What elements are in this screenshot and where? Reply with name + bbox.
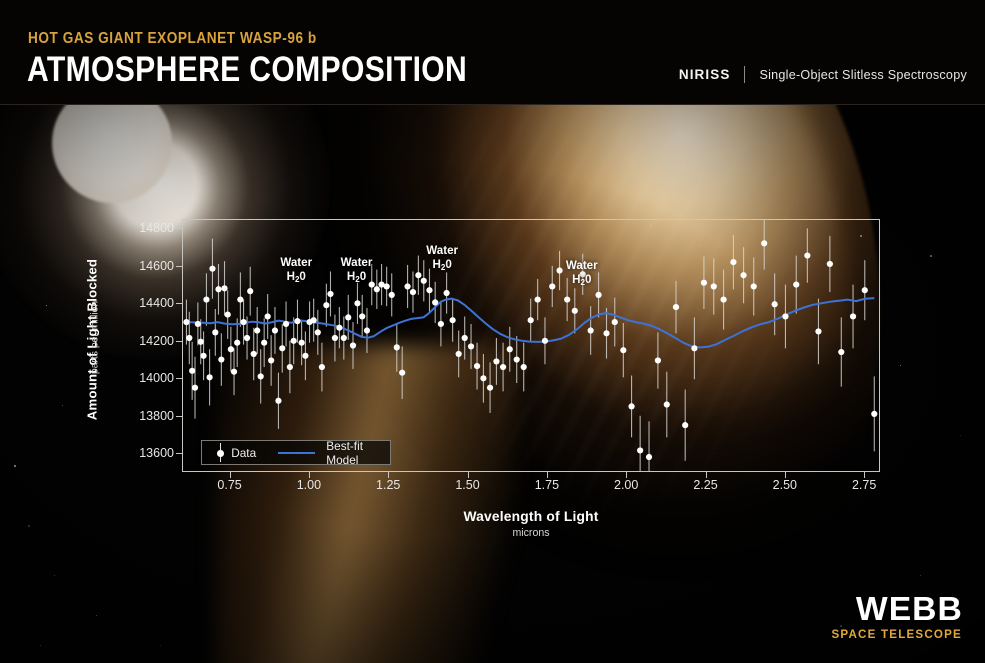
y-tick-mark — [176, 341, 182, 342]
webb-logo: WEBB SPACE TELESCOPE — [831, 592, 962, 641]
infographic-canvas: HOT GAS GIANT EXOPLANET WASP-96 b ATMOSP… — [0, 0, 985, 663]
x-tick-label: 2.50 — [773, 478, 797, 492]
header-bar: HOT GAS GIANT EXOPLANET WASP-96 b ATMOSP… — [0, 0, 985, 105]
webb-wordmark: WEBB — [830, 592, 963, 625]
header-instrument-block: NIRISS Single-Object Slitless Spectrosco… — [679, 66, 967, 83]
y-tick-label: 14400 — [104, 296, 174, 310]
x-tick-mark — [785, 472, 786, 478]
legend-model-label: Best-fit Model — [326, 439, 390, 467]
x-tick-label: 1.25 — [376, 478, 400, 492]
spectrum-plot: 136001380014000142001440014600148000.751… — [182, 219, 880, 472]
header-eyebrow: HOT GAS GIANT EXOPLANET WASP-96 b — [28, 30, 317, 48]
legend-data-label: Data — [231, 446, 256, 460]
legend-model-line — [278, 452, 315, 454]
x-tick-mark — [230, 472, 231, 478]
x-tick-label: 1.75 — [535, 478, 559, 492]
water-annotation: WaterH20 — [341, 256, 373, 285]
x-tick-label: 2.25 — [693, 478, 717, 492]
y-tick-mark — [176, 266, 182, 267]
y-tick-mark — [176, 378, 182, 379]
x-tick-label: 2.75 — [852, 478, 876, 492]
x-axis-title: Wavelength of Light — [182, 509, 880, 524]
y-tick-label: 14000 — [104, 371, 174, 385]
legend-data-marker — [209, 442, 230, 463]
water-annotation: WaterH20 — [280, 256, 312, 285]
y-tick-mark — [176, 453, 182, 454]
y-axis-title-group: Amount of Light Blocked parts per millio… — [78, 258, 104, 433]
y-tick-mark — [176, 416, 182, 417]
x-tick-mark — [468, 472, 469, 478]
header-rule — [0, 104, 985, 105]
y-tick-mark — [176, 228, 182, 229]
x-axis-units: microns — [182, 527, 880, 539]
x-tick-label: 1.50 — [455, 478, 479, 492]
water-annotation: WaterH20 — [426, 244, 458, 273]
x-tick-mark — [706, 472, 707, 478]
water-annotation: WaterH20 — [566, 259, 598, 288]
page-title: ATMOSPHERE COMPOSITION — [27, 50, 467, 90]
observation-mode: Single-Object Slitless Spectroscopy — [759, 68, 967, 82]
chart-legend[interactable]: Data Best-fit Model — [201, 440, 391, 465]
x-tick-mark — [309, 472, 310, 478]
x-tick-mark — [388, 472, 389, 478]
y-tick-label: 14200 — [104, 334, 174, 348]
x-tick-label: 0.75 — [217, 478, 241, 492]
webb-tagline: SPACE TELESCOPE — [831, 628, 962, 641]
y-tick-label: 13600 — [104, 446, 174, 460]
x-tick-label: 1.00 — [297, 478, 321, 492]
x-tick-mark — [626, 472, 627, 478]
x-tick-label: 2.00 — [614, 478, 638, 492]
x-axis-title-group: Wavelength of Light microns — [182, 509, 880, 539]
x-tick-mark — [547, 472, 548, 478]
y-tick-label: 14800 — [104, 221, 174, 235]
y-tick-label: 13800 — [104, 409, 174, 423]
y-axis-units: parts per million — [90, 273, 101, 403]
y-tick-mark — [176, 303, 182, 304]
y-tick-label: 14600 — [104, 259, 174, 273]
header-divider — [744, 66, 745, 83]
instrument-name: NIRISS — [679, 67, 731, 82]
x-tick-mark — [864, 472, 865, 478]
